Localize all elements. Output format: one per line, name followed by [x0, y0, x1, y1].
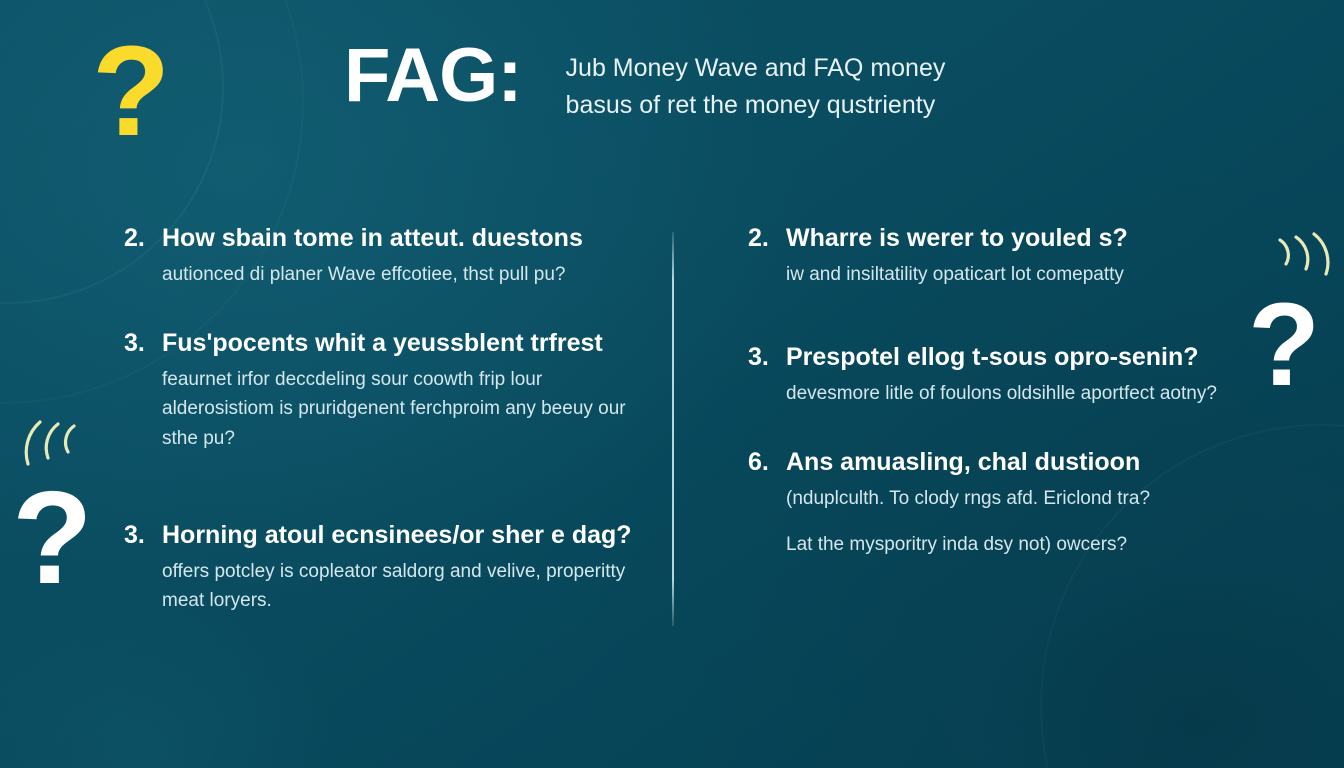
faq-item: 6. Ans amuasling, chal dustioon (nduplcu…	[748, 446, 1228, 559]
faq-question: Wharre is werer to youled s?	[786, 222, 1228, 256]
faq-content: Wharre is werer to youled s? iw and insi…	[786, 222, 1228, 289]
faq-content: Fus'pocents whit a yeussblent trfrest fe…	[162, 327, 644, 453]
faq-number: 2.	[748, 222, 786, 289]
faq-question: Prespotel ellog t-sous opro-senin?	[786, 341, 1228, 375]
faq-number: 3.	[748, 341, 786, 408]
faq-column-right: 2. Wharre is werer to youled s? iw and i…	[748, 222, 1228, 559]
faq-content: Ans amuasling, chal dustioon (nduplculth…	[786, 446, 1228, 559]
faq-item: 3. Fus'pocents whit a yeussblent trfrest…	[124, 327, 644, 453]
faq-item: 3. Horning atoul ecnsinees/or sher e dag…	[124, 519, 644, 616]
faq-question: Fus'pocents whit a yeussblent trfrest	[162, 327, 644, 361]
faq-number: 3.	[124, 327, 162, 453]
faq-number: 3.	[124, 519, 162, 616]
faq-content: Prespotel ellog t-sous opro-senin? deves…	[786, 341, 1228, 408]
faq-columns: 2. How sbain tome in atteut. duestons au…	[0, 0, 1344, 768]
faq-question: How sbain tome in atteut. duestons	[162, 222, 644, 256]
faq-question: Horning atoul ecnsinees/or sher e dag?	[162, 519, 644, 553]
faq-slide: ? ? ? FAG: Jub Money Wave and FAQ money …	[0, 0, 1344, 768]
faq-answer: iw and insiltatility opaticart lot comep…	[786, 260, 1228, 289]
faq-column-left: 2. How sbain tome in atteut. duestons au…	[124, 222, 644, 616]
faq-number: 2.	[124, 222, 162, 289]
faq-content: Horning atoul ecnsinees/or sher e dag? o…	[162, 519, 644, 616]
faq-item: 3. Prespotel ellog t-sous opro-senin? de…	[748, 341, 1228, 408]
faq-answer: devesmore litle of foulons oldsihlle apo…	[786, 379, 1228, 408]
faq-answer: (nduplculth. To clody rngs afd. Ericlond…	[786, 484, 1228, 513]
faq-answer: feaurnet irfor deccdeling sour coowth fr…	[162, 365, 644, 453]
faq-item: 2. Wharre is werer to youled s? iw and i…	[748, 222, 1228, 289]
faq-content: How sbain tome in atteut. duestons autio…	[162, 222, 644, 289]
column-divider	[672, 232, 674, 626]
faq-answer: autionced di planer Wave effcotiee, thst…	[162, 260, 644, 289]
faq-number: 6.	[748, 446, 786, 559]
faq-item: 2. How sbain tome in atteut. duestons au…	[124, 222, 644, 289]
faq-answer-secondary: Lat the mysporitry inda dsy not) owcers?	[786, 530, 1228, 559]
faq-answer: offers potcley is copleator saldorg and …	[162, 557, 644, 616]
faq-question: Ans amuasling, chal dustioon	[786, 446, 1228, 480]
